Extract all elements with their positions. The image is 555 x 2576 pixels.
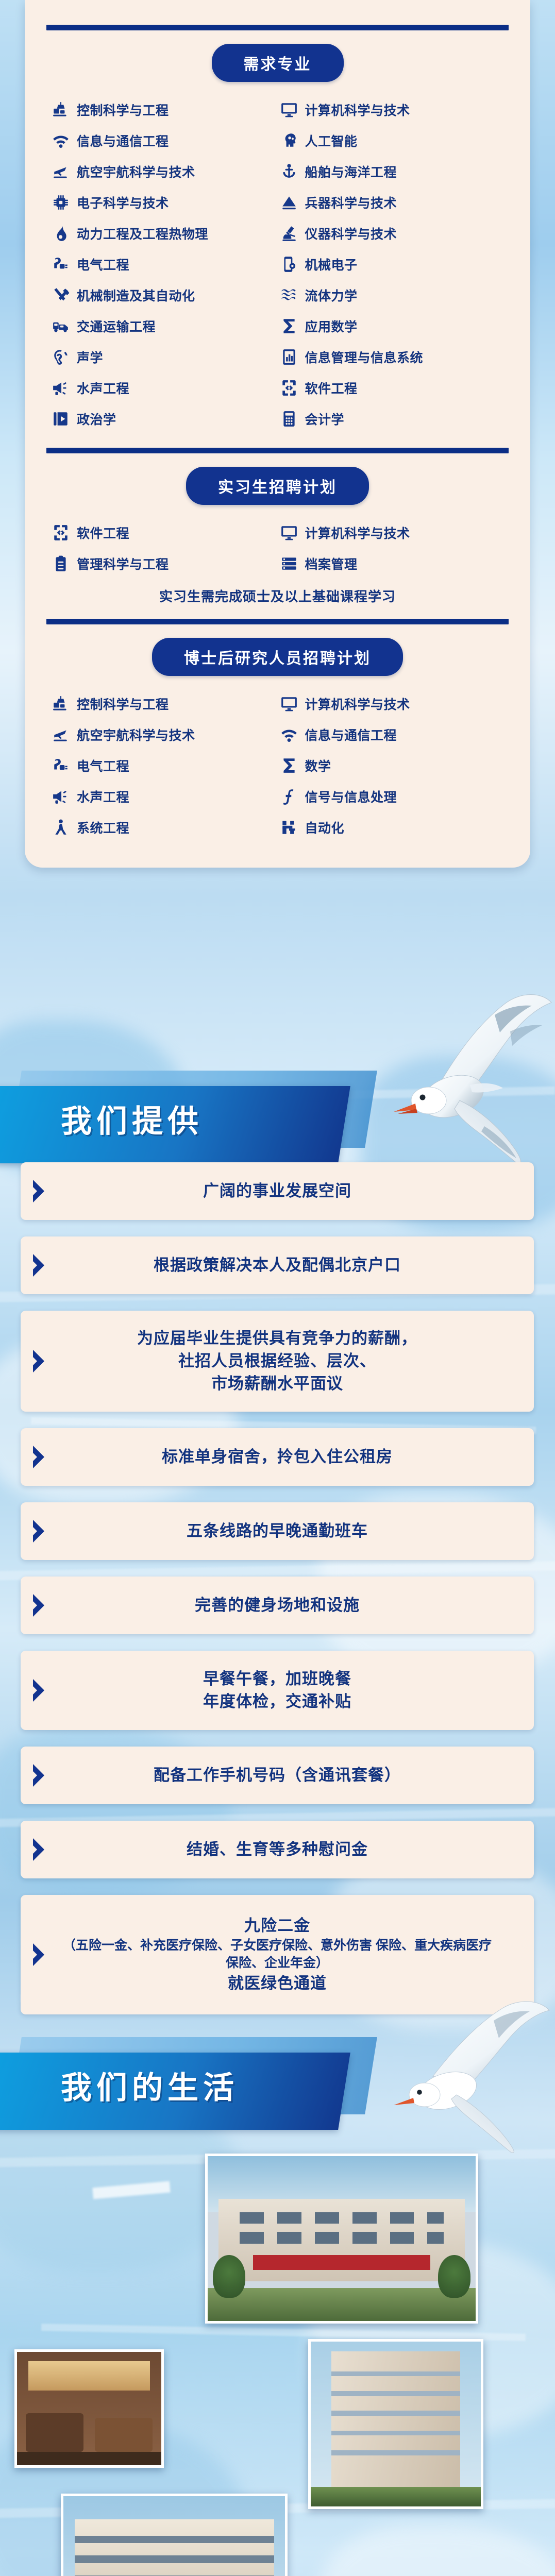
postdoc-major-label: 水声工程 [77, 787, 129, 806]
major-item[interactable]: 机械电子 [280, 249, 504, 280]
chevron-right-icon [21, 1180, 57, 1202]
monitor-icon [280, 523, 298, 542]
chevron-right-icon [21, 1350, 57, 1372]
monitor-icon [280, 694, 298, 713]
major-item[interactable]: 动力工程及工程热物理 [52, 218, 276, 249]
major-label: 软件工程 [305, 379, 358, 397]
major-item[interactable]: 电子科学与技术 [52, 187, 276, 218]
book-play-icon [52, 410, 70, 428]
major-item[interactable]: 仪器科学与技术 [280, 218, 504, 249]
waves-icon [280, 286, 298, 304]
postdoc-major-item[interactable]: 系统工程 [52, 812, 276, 843]
major-item[interactable]: 软件工程 [280, 372, 504, 403]
anchor-icon [280, 162, 298, 181]
major-label: 仪器科学与技术 [305, 224, 397, 243]
postdoc-grid: 控制科学与工程 计算机科学与技术 航空宇航科学与技术 信息与通信工程 电气工程 … [25, 681, 530, 845]
chevron-right-icon [21, 1764, 57, 1787]
phone-gear-icon [280, 255, 298, 274]
major-label: 交通运输工程 [77, 317, 156, 335]
postdoc-major-item[interactable]: 信息与通信工程 [280, 719, 504, 750]
intern-title-wrap: 实习生招聘计划 [25, 453, 530, 510]
wifi-icon [52, 131, 70, 150]
major-label: 应用数学 [305, 317, 358, 335]
insurance-detail: （五险一金、补充医疗保险、子女医疗保险、意外伤害 保险、重大疾病医疗保险、企业年… [57, 1937, 498, 1972]
office-block-photo[interactable] [61, 2494, 288, 2576]
major-label: 声学 [77, 348, 103, 366]
wrench-screwdriver-icon [52, 286, 70, 304]
signal-fourier-icon [280, 787, 298, 806]
major-label: 人工智能 [305, 131, 358, 150]
benefit-text: 为应届毕业生提供具有竞争力的薪酬， 社招人员根据经验、层次、 市场薪酬水平面议 [57, 1327, 534, 1395]
benefit-card[interactable]: 结婚、生育等多种慰问金 [21, 1821, 534, 1878]
offer-banner-title: 我们提供 [61, 1096, 203, 1141]
campus-main-building-photo[interactable] [205, 2154, 478, 2324]
divider-rule-postdoc [46, 619, 509, 624]
major-label: 动力工程及工程热物理 [77, 224, 208, 243]
benefit-text: 根据政策解决本人及配偶北京户口 [57, 1254, 534, 1277]
major-item[interactable]: 信息与通信工程 [52, 125, 276, 156]
intern-major-label: 计算机科学与技术 [305, 523, 410, 542]
intern-grid: 软件工程 计算机科学与技术 管理科学与工程 档案管理 [25, 510, 530, 581]
microscope-icon [280, 224, 298, 243]
microchip-icon [52, 193, 70, 212]
airplane-takeoff-icon [52, 725, 70, 744]
sigma-icon [280, 756, 298, 775]
major-label: 流体力学 [305, 286, 358, 304]
benefit-card[interactable]: 早餐午餐，加班晚餐 年度体检，交通补贴 [21, 1651, 534, 1730]
major-item[interactable]: 兵器科学与技术 [280, 187, 504, 218]
benefit-card[interactable]: 广阔的事业发展空间 [21, 1162, 534, 1220]
major-label: 控制科学与工程 [77, 100, 169, 119]
code-brackets-icon [52, 523, 70, 542]
postdoc-title-wrap: 博士后研究人员招聘计划 [25, 624, 530, 681]
code-brackets-icon [280, 379, 298, 397]
postdoc-major-label: 控制科学与工程 [77, 694, 169, 713]
bar-chart-report-icon [280, 348, 298, 366]
major-item[interactable]: 航空宇航科学与技术 [52, 156, 276, 187]
chevron-right-icon [21, 1446, 57, 1468]
postdoc-major-item[interactable]: 数学 [280, 750, 504, 781]
postdoc-major-label: 自动化 [305, 818, 345, 837]
chevron-right-icon [21, 1838, 57, 1861]
megaphone-icon [52, 787, 70, 806]
benefit-text: 广阔的事业发展空间 [57, 1180, 534, 1202]
chevron-right-icon [21, 1679, 57, 1702]
major-item[interactable]: 计算机科学与技术 [280, 94, 504, 125]
postdoc-major-item[interactable]: 计算机科学与技术 [280, 688, 504, 719]
benefit-card[interactable]: 标准单身宿舍，拎包入住公租房 [21, 1428, 534, 1486]
postdoc-major-item[interactable]: 水声工程 [52, 781, 276, 812]
major-item[interactable]: 电气工程 [52, 249, 276, 280]
benefit-card[interactable]: 配备工作手机号码（含通讯套餐） [21, 1747, 534, 1804]
intern-major-item[interactable]: 计算机科学与技术 [280, 517, 504, 548]
bus-icon [52, 317, 70, 335]
archive-rows-icon [280, 554, 298, 573]
major-label: 电子科学与技术 [77, 193, 169, 212]
sigma-icon [280, 317, 298, 335]
benefit-card[interactable]: 完善的健身场地和设施 [21, 1577, 534, 1634]
benefit-text: 五条线路的早晚通勤班车 [57, 1520, 534, 1543]
major-label: 机械电子 [305, 255, 358, 274]
benefit-text: 标准单身宿舍，拎包入住公租房 [57, 1446, 534, 1468]
offer-banner: 我们提供 [0, 1059, 555, 1170]
megaphone-icon [52, 379, 70, 397]
insurance-extra: 就医绿色通道 [57, 1972, 498, 1995]
flame-icon [52, 224, 70, 243]
robot-arm-icon [52, 100, 70, 119]
interior-lounge-photo[interactable] [14, 2349, 164, 2468]
postdoc-major-label: 航空宇航科学与技术 [77, 725, 195, 744]
benefit-text: 早餐午餐，加班晚餐 年度体检，交通补贴 [57, 1668, 534, 1713]
benefit-text: 结婚、生育等多种慰问金 [57, 1838, 534, 1861]
benefit-card[interactable]: 为应届毕业生提供具有竞争力的薪酬， 社招人员根据经验、层次、 市场薪酬水平面议 [21, 1311, 534, 1412]
majors-title-wrap: 需求专业 [25, 30, 530, 87]
major-item[interactable]: 应用数学 [280, 311, 504, 342]
major-item[interactable]: 人工智能 [280, 125, 504, 156]
intern-major-item[interactable]: 档案管理 [280, 548, 504, 579]
automation-blocks-icon [280, 818, 298, 837]
major-label: 信息管理与信息系统 [305, 348, 424, 366]
postdoc-major-item[interactable]: 控制科学与工程 [52, 688, 276, 719]
benefit-card[interactable]: 五条线路的早晚通勤班车 [21, 1502, 534, 1560]
benefit-card-insurance[interactable]: 九险二金 （五险一金、补充医疗保险、子女医疗保险、意外伤害 保险、重大疾病医疗保… [21, 1895, 534, 2014]
power-plug-icon [52, 756, 70, 775]
chevron-right-icon [21, 1943, 57, 1966]
major-item[interactable]: 水声工程 [52, 372, 276, 403]
benefit-card[interactable]: 根据政策解决本人及配偶北京户口 [21, 1236, 534, 1294]
triangle-weapon-icon [280, 193, 298, 212]
postdoc-major-item[interactable]: 电气工程 [52, 750, 276, 781]
divider-rule-intern [46, 448, 509, 453]
airplane-takeoff-icon [52, 162, 70, 181]
recruitment-majors-card: 需求专业 控制科学与工程 计算机科学与技术 信息与通信工程 人工智能 [25, 0, 530, 868]
major-item[interactable]: 交通运输工程 [52, 311, 276, 342]
major-item[interactable]: 船舶与海洋工程 [280, 156, 504, 187]
monitor-icon [280, 100, 298, 119]
major-item[interactable]: 声学 [52, 342, 276, 372]
major-item[interactable]: 政治学 [52, 403, 276, 434]
postdoc-major-label: 信号与信息处理 [305, 787, 397, 806]
residential-tower-photo[interactable] [308, 2339, 483, 2509]
chevron-right-icon [21, 1594, 57, 1617]
postdoc-title-pill: 博士后研究人员招聘计划 [152, 638, 403, 676]
postdoc-major-item[interactable]: 航空宇航科学与技术 [52, 719, 276, 750]
clipboard-icon [52, 554, 70, 573]
postdoc-major-item[interactable]: 自动化 [280, 812, 504, 843]
major-label: 兵器科学与技术 [305, 193, 397, 212]
life-banner: 我们的生活 [0, 2026, 555, 2136]
person-icon [52, 818, 70, 837]
majors-title-pill: 需求专业 [212, 44, 344, 82]
life-banner-title: 我们的生活 [61, 2063, 239, 2108]
chevron-right-icon [21, 1520, 57, 1543]
intern-note: 实习生需完成硕士及以上基础课程学习 [25, 581, 530, 619]
major-item[interactable]: 信息管理与信息系统 [280, 342, 504, 372]
major-item[interactable]: 会计学 [280, 403, 504, 434]
intern-major-label: 管理科学与工程 [77, 554, 169, 573]
power-plug-icon [52, 255, 70, 274]
insurance-title: 九险二金 [57, 1914, 498, 1937]
wifi-icon [280, 725, 298, 744]
major-label: 计算机科学与技术 [305, 100, 410, 119]
intern-major-item[interactable]: 管理科学与工程 [52, 548, 276, 579]
postdoc-major-item[interactable]: 信号与信息处理 [280, 781, 504, 812]
intern-major-label: 档案管理 [305, 554, 358, 573]
postdoc-major-label: 电气工程 [77, 756, 129, 775]
intern-major-item[interactable]: 软件工程 [52, 517, 276, 548]
postdoc-major-label: 信息与通信工程 [305, 725, 397, 744]
major-label: 航空宇航科学与技术 [77, 162, 195, 181]
major-label: 会计学 [305, 410, 345, 428]
postdoc-major-label: 数学 [305, 756, 331, 775]
major-label: 政治学 [77, 410, 116, 428]
major-item[interactable]: 控制科学与工程 [52, 94, 276, 125]
benefit-text-group: 九险二金 （五险一金、补充医疗保险、子女医疗保险、意外伤害 保险、重大疾病医疗保… [57, 1914, 534, 1995]
major-item[interactable]: 流体力学 [280, 280, 504, 311]
major-label: 水声工程 [77, 379, 129, 397]
major-item[interactable]: 机械制造及其自动化 [52, 280, 276, 311]
major-label: 船舶与海洋工程 [305, 162, 397, 181]
majors-grid: 控制科学与工程 计算机科学与技术 信息与通信工程 人工智能 航空宇航科学与技术 … [25, 87, 530, 436]
benefit-text: 配备工作手机号码（含通讯套餐） [57, 1764, 534, 1787]
intern-title-pill: 实习生招聘计划 [186, 467, 369, 505]
major-label: 电气工程 [77, 255, 129, 274]
chevron-right-icon [21, 1254, 57, 1277]
poster-page: 需求专业 控制科学与工程 计算机科学与技术 信息与通信工程 人工智能 [0, 0, 555, 2576]
major-label: 信息与通信工程 [77, 131, 169, 150]
brain-gears-icon [280, 131, 298, 150]
robot-arm-icon [52, 694, 70, 713]
benefit-text: 完善的健身场地和设施 [57, 1594, 534, 1617]
major-label: 机械制造及其自动化 [77, 286, 195, 304]
divider-rule-top [46, 25, 509, 30]
ear-sound-icon [52, 348, 70, 366]
intern-major-label: 软件工程 [77, 523, 129, 542]
postdoc-major-label: 计算机科学与技术 [305, 694, 410, 713]
calculator-icon [280, 410, 298, 428]
postdoc-major-label: 系统工程 [77, 818, 129, 837]
